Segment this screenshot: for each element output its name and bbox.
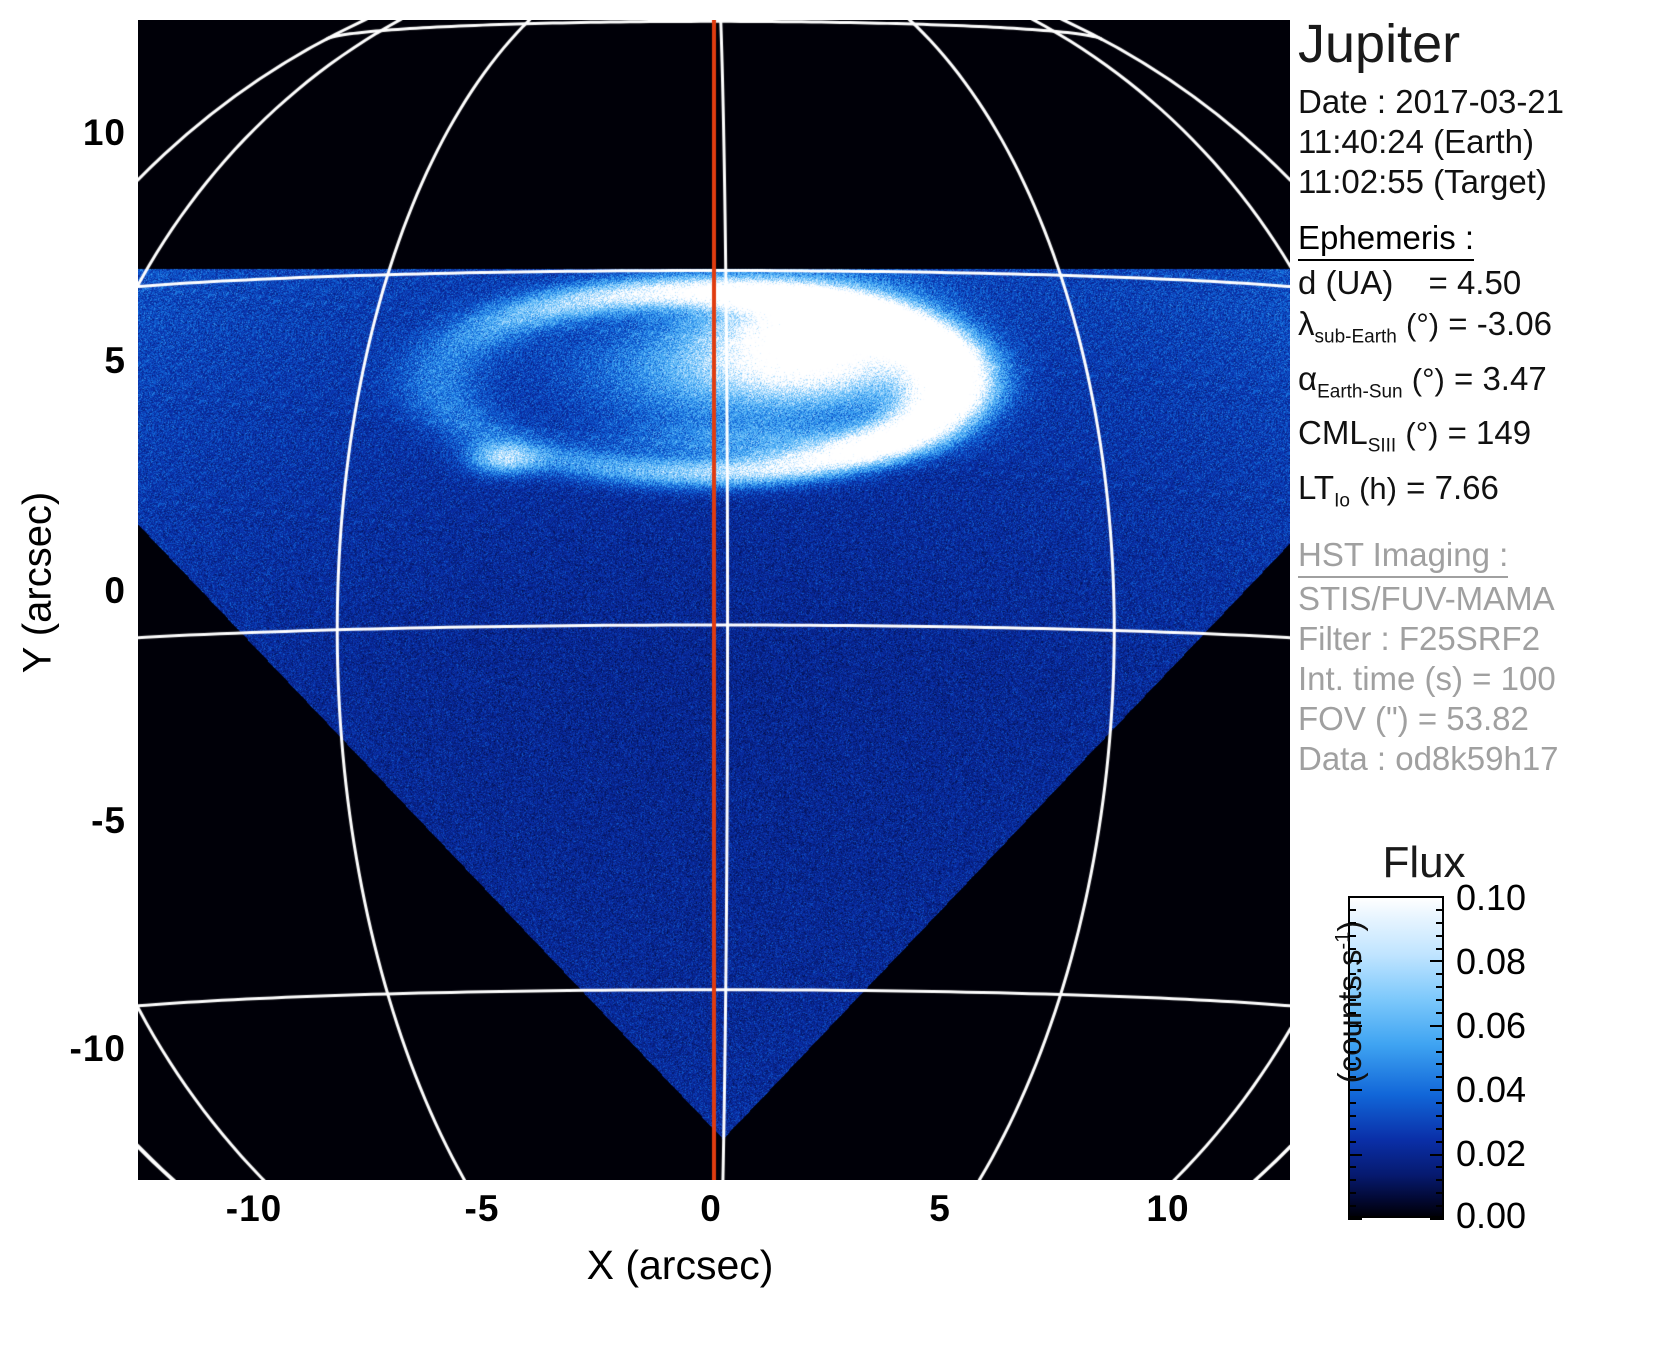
y-tick-minus5: -5 bbox=[30, 800, 126, 842]
ephemeris-section: Ephemeris : d (UA) = 4.50 λsub-Earth (°)… bbox=[1298, 218, 1671, 521]
colorbar-tick-mark bbox=[1430, 960, 1444, 962]
alpha-unit: (°) bbox=[1412, 362, 1445, 397]
colorbar-minor-tick bbox=[1436, 999, 1444, 1001]
colorbar-minor-tick bbox=[1348, 1051, 1356, 1053]
colorbar-tick-mark bbox=[1430, 1089, 1444, 1091]
x-tick-0: 0 bbox=[651, 1188, 771, 1230]
colorbar-minor-tick bbox=[1348, 1012, 1356, 1014]
colorbar-minor-tick bbox=[1436, 922, 1444, 924]
colorbar-minor-tick bbox=[1348, 973, 1356, 975]
target-title: Jupiter bbox=[1298, 14, 1671, 74]
grid-overlay-canvas bbox=[138, 20, 1290, 1180]
x-tick-minus10: -10 bbox=[194, 1188, 314, 1230]
observation-time-target: 11:02:55 (Target) bbox=[1298, 162, 1671, 202]
colorbar-tick-010: 0.10 bbox=[1456, 877, 1526, 919]
lt-symbol: LT bbox=[1298, 469, 1334, 506]
colorbar-minor-tick bbox=[1348, 1102, 1356, 1104]
hst-imaging-section: HST Imaging : STIS/FUV-MAMA Filter : F25… bbox=[1298, 535, 1671, 779]
colorbar-minor-tick bbox=[1348, 1141, 1356, 1143]
colorbar-minor-tick bbox=[1436, 1102, 1444, 1104]
alpha-symbol: α bbox=[1298, 360, 1317, 397]
cml-subscript: SIII bbox=[1368, 436, 1397, 457]
colorbar-tick-mark bbox=[1430, 1154, 1444, 1156]
alpha-subscript: Earth-Sun bbox=[1317, 381, 1403, 402]
colorbar-minor-tick bbox=[1436, 1051, 1444, 1053]
colorbar-minor-tick bbox=[1436, 909, 1444, 911]
x-tick-minus5: -5 bbox=[422, 1188, 542, 1230]
ephemeris-sub-earth-latitude: λsub-Earth (°) = -3.06 bbox=[1298, 303, 1671, 358]
colorbar-minor-tick bbox=[1436, 973, 1444, 975]
x-axis-label: X (arcsec) bbox=[440, 1242, 920, 1289]
colorbar-minor-tick bbox=[1348, 948, 1356, 950]
colorbar-minor-tick bbox=[1348, 1192, 1356, 1194]
x-tick-10: 10 bbox=[1108, 1188, 1228, 1230]
colorbar-minor-tick bbox=[1436, 1128, 1444, 1130]
hst-instrument: STIS/FUV-MAMA bbox=[1298, 579, 1671, 619]
colorbar-minor-tick bbox=[1436, 1179, 1444, 1181]
observation-time-earth: 11:40:24 (Earth) bbox=[1298, 122, 1671, 162]
lt-unit: (h) bbox=[1359, 471, 1397, 506]
colorbar-minor-tick bbox=[1436, 1192, 1444, 1194]
colorbar-minor-tick bbox=[1348, 1038, 1356, 1040]
colorbar-minor-tick bbox=[1436, 1205, 1444, 1207]
figure-root: 10 5 0 -5 -10 Y (arcsec) -10 -5 0 5 10 X… bbox=[0, 0, 1671, 1367]
colorbar-minor-tick bbox=[1436, 948, 1444, 950]
colorbar-tick-mark bbox=[1430, 1218, 1444, 1220]
colorbar-minor-tick bbox=[1436, 1012, 1444, 1014]
cml-unit: (°) bbox=[1405, 416, 1438, 451]
ephemeris-phase-angle: αEarth-Sun (°) = 3.47 bbox=[1298, 358, 1671, 413]
lambda-symbol: λ bbox=[1298, 305, 1315, 342]
colorbar-tick-002: 0.02 bbox=[1456, 1133, 1526, 1175]
colorbar-tick-mark bbox=[1348, 1089, 1362, 1091]
cml-symbol: CML bbox=[1298, 414, 1368, 451]
colorbar-tick-mark bbox=[1348, 896, 1362, 898]
ephemeris-io-local-time: LTIo (h) = 7.66 bbox=[1298, 467, 1671, 522]
colorbar-tick-008: 0.08 bbox=[1456, 941, 1526, 983]
distance-value: = 4.50 bbox=[1429, 264, 1522, 301]
colorbar-minor-tick bbox=[1436, 1063, 1444, 1065]
colorbar-minor-tick bbox=[1348, 1205, 1356, 1207]
hst-fov: FOV (") = 53.82 bbox=[1298, 699, 1671, 739]
colorbar-minor-tick bbox=[1436, 1166, 1444, 1168]
colorbar-minor-tick bbox=[1348, 1115, 1356, 1117]
alpha-value: = 3.47 bbox=[1454, 360, 1547, 397]
colorbar-minor-tick bbox=[1436, 1115, 1444, 1117]
observation-date: Date : 2017-03-21 bbox=[1298, 82, 1671, 122]
cml-value: = 149 bbox=[1448, 414, 1532, 451]
colorbar-tick-mark bbox=[1348, 1218, 1362, 1220]
hst-integration-time: Int. time (s) = 100 bbox=[1298, 659, 1671, 699]
colorbar-tick-mark bbox=[1430, 1025, 1444, 1027]
colorbar-minor-tick bbox=[1348, 1166, 1356, 1168]
colorbar-minor-tick bbox=[1348, 935, 1356, 937]
colorbar-minor-tick bbox=[1436, 1038, 1444, 1040]
colorbar-tick-mark bbox=[1348, 1025, 1362, 1027]
lt-value: = 7.66 bbox=[1406, 469, 1499, 506]
colorbar-tick-000: 0.00 bbox=[1456, 1195, 1526, 1237]
y-axis-label: Y (arcsec) bbox=[16, 453, 61, 713]
colorbar-minor-tick bbox=[1348, 1076, 1356, 1078]
colorbar-minor-tick bbox=[1348, 1128, 1356, 1130]
hst-filter: Filter : F25SRF2 bbox=[1298, 619, 1671, 659]
y-tick-minus10: -10 bbox=[30, 1028, 126, 1070]
colorbar-tick-mark bbox=[1348, 960, 1362, 962]
colorbar-minor-tick bbox=[1348, 1179, 1356, 1181]
colorbar-unit-label: (counts.s-1) bbox=[1331, 872, 1369, 1132]
jupiter-image-plot[interactable] bbox=[138, 20, 1290, 1180]
colorbar-minor-tick bbox=[1436, 1076, 1444, 1078]
colorbar-minor-tick bbox=[1348, 922, 1356, 924]
colorbar-tick-004: 0.04 bbox=[1456, 1069, 1526, 1111]
colorbar-minor-tick bbox=[1436, 935, 1444, 937]
x-tick-5: 5 bbox=[880, 1188, 1000, 1230]
info-panel: Jupiter Date : 2017-03-21 11:40:24 (Eart… bbox=[1298, 14, 1671, 779]
colorbar-minor-tick bbox=[1348, 1063, 1356, 1065]
colorbar-minor-tick bbox=[1348, 999, 1356, 1001]
colorbar-tick-mark bbox=[1348, 1154, 1362, 1156]
distance-label: d (UA) bbox=[1298, 264, 1393, 301]
colorbar-tick-mark bbox=[1430, 896, 1444, 898]
y-tick-10: 10 bbox=[30, 112, 126, 154]
lambda-value: = -3.06 bbox=[1448, 305, 1552, 342]
y-tick-5: 5 bbox=[30, 340, 126, 382]
colorbar-minor-tick bbox=[1348, 986, 1356, 988]
hst-dataset-id: Data : od8k59h17 bbox=[1298, 739, 1671, 779]
colorbar-minor-tick bbox=[1436, 986, 1444, 988]
lambda-unit: (°) bbox=[1406, 307, 1439, 342]
lambda-subscript: sub-Earth bbox=[1315, 327, 1397, 348]
colorbar-tick-006: 0.06 bbox=[1456, 1005, 1526, 1047]
ephemeris-cml: CMLSIII (°) = 149 bbox=[1298, 412, 1671, 467]
ephemeris-distance: d (UA) = 4.50 bbox=[1298, 262, 1671, 303]
lt-subscript: Io bbox=[1334, 490, 1350, 511]
ephemeris-heading: Ephemeris : bbox=[1298, 218, 1474, 261]
colorbar-minor-tick bbox=[1348, 909, 1356, 911]
colorbar-minor-tick bbox=[1436, 1141, 1444, 1143]
hst-heading: HST Imaging : bbox=[1298, 535, 1508, 578]
